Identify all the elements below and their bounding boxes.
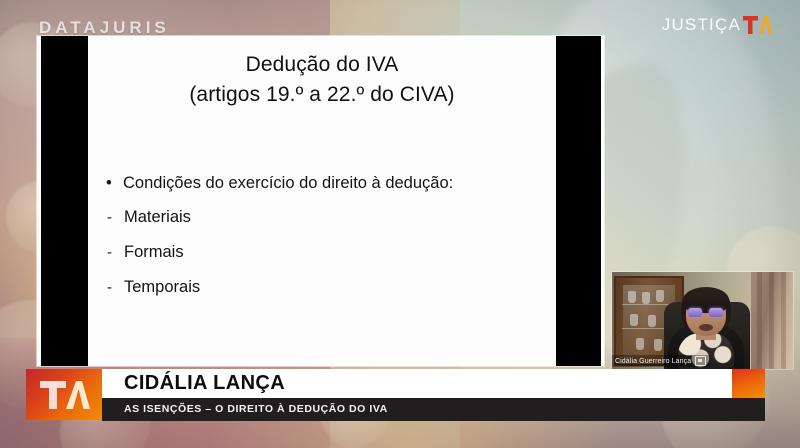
speaker-name-bar: CIDÁLIA LANÇA — [102, 369, 765, 398]
glasses-lens — [688, 308, 702, 317]
dash-marker-icon: - — [106, 209, 124, 228]
slide-bullet-list: • Condições do exercício do direito à de… — [88, 110, 556, 298]
curtain-fold — [757, 272, 762, 369]
slide-bullet-item: • Condições do exercício do direito à de… — [106, 173, 556, 194]
curtain-fold — [781, 272, 786, 369]
cabinet-object — [636, 338, 644, 350]
pillarbox-left — [41, 36, 88, 366]
slide-bullet-item: - Formais — [106, 242, 556, 263]
ta-logo-box — [26, 369, 102, 420]
slide-bullet-text: Condições do exercício do direito à dedu… — [123, 173, 453, 194]
slide-title: Dedução do IVA (artigos 19.º a 22.º do C… — [88, 36, 556, 110]
slide-bullet-item: - Temporais — [106, 277, 556, 298]
cabinet-object — [656, 290, 664, 302]
cabinet-object — [648, 315, 656, 327]
bullet-marker-icon: • — [106, 173, 123, 194]
speaker-glasses-icon — [688, 308, 724, 317]
lower-third-banner: CIDÁLIA LANÇA AS ISENÇÕES – O DIREITO À … — [26, 369, 765, 421]
glasses-lens — [709, 308, 723, 317]
slide-content: Dedução do IVA (artigos 19.º a 22.º do C… — [88, 36, 556, 366]
cabinet-object — [630, 314, 638, 326]
expand-icon[interactable] — [695, 356, 706, 366]
broadcast-screen: DATAJURIS JUSTIÇA Dedução do IVA (artigo… — [0, 0, 800, 448]
webcam-name-label: Cidália Guerreiro Lança — [612, 355, 710, 367]
brand-accent-block — [732, 369, 765, 398]
slide-bullet-text: Temporais — [124, 277, 200, 298]
dash-marker-icon: - — [106, 279, 124, 298]
cabinet-object — [654, 339, 662, 351]
dash-marker-icon: - — [106, 244, 124, 263]
curtain-fold — [769, 272, 774, 369]
justica-ta-logo: JUSTIÇA — [662, 12, 772, 38]
speaker-name: CIDÁLIA LANÇA — [124, 372, 285, 395]
slide-title-line-1: Dedução do IVA — [88, 50, 556, 80]
ta-monogram-icon — [38, 378, 90, 412]
session-title: AS ISENÇÕES – O DIREITO À DEDUÇÃO DO IVA — [124, 403, 388, 415]
cabinet-object — [628, 291, 636, 303]
slide-bullet-text: Materiais — [124, 207, 191, 228]
slide-bullet-item: - Materiais — [106, 207, 556, 228]
slide-title-line-2: (artigos 19.º a 22.º do CIVA) — [88, 80, 556, 110]
cabinet-object — [642, 292, 650, 304]
ta-monogram-icon — [742, 13, 772, 37]
datajuris-watermark: DATAJURIS — [39, 18, 170, 38]
session-title-bar: AS ISENÇÕES – O DIREITO À DEDUÇÃO DO IVA — [102, 398, 765, 421]
justica-logo-word: JUSTIÇA — [662, 15, 741, 35]
cabinet-shelf — [622, 304, 674, 305]
webcam-participant-name: Cidália Guerreiro Lança — [615, 358, 691, 365]
pillarbox-right — [556, 36, 601, 366]
speaker-mouth — [699, 324, 713, 331]
slide-bullet-text: Formais — [124, 242, 184, 263]
webcam-curtain — [751, 272, 793, 369]
webcam-video-tile[interactable]: Cidália Guerreiro Lança — [612, 272, 793, 369]
presentation-slide: Dedução do IVA (artigos 19.º a 22.º do C… — [37, 36, 604, 366]
